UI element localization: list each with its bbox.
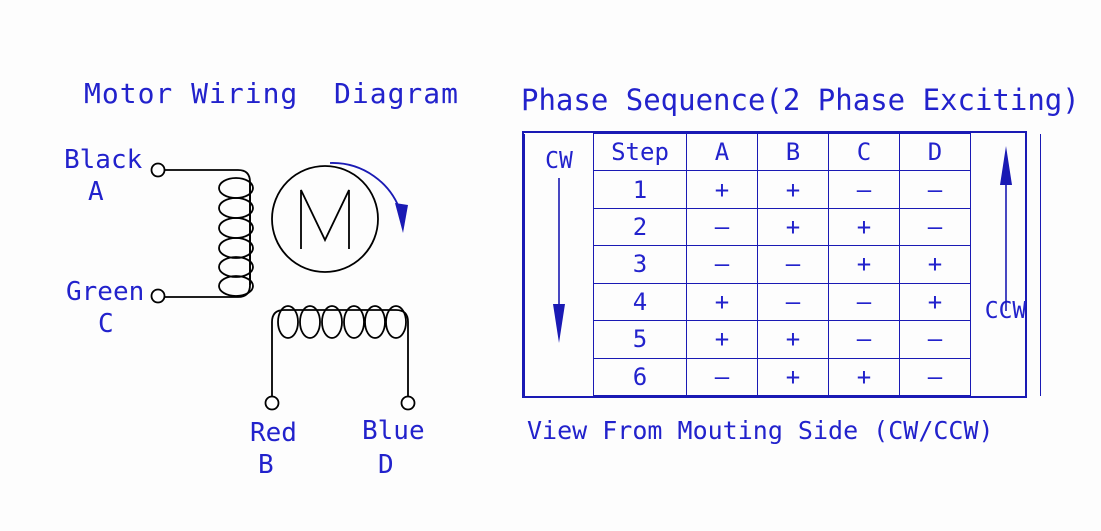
table-row: 6 — + + — [525,358,1041,395]
column-header-a: A [687,134,758,171]
cell-phase-b: + [758,208,829,245]
view-from-mounting-side-note: View From Mouting Side (CW/CCW) [527,418,994,443]
cell-phase-d: + [900,246,971,283]
cw-label: CW [525,148,593,174]
phase-sequence-table: CW Step A B C D CCW [522,131,1027,398]
table-row: 3 — — + + [525,246,1041,283]
cell-step: 4 [594,283,687,320]
cell-phase-b: + [758,358,829,395]
column-header-c: C [829,134,900,171]
terminal-phase-c: C [98,311,114,337]
cell-phase-d: + [900,283,971,320]
cell-step: 5 [594,321,687,358]
table-row: 2 — + + — [525,208,1041,245]
cw-direction-cell: CW [525,134,594,396]
rotation-arrow-clockwise [330,163,408,233]
cell-phase-c: — [829,283,900,320]
coil-ac-wires [164,170,250,297]
table-row: 5 + + — — [525,321,1041,358]
cell-phase-d: — [900,358,971,395]
cell-step: 6 [594,358,687,395]
cell-phase-a: — [687,358,758,395]
cell-phase-a: — [687,208,758,245]
cell-phase-b: — [758,246,829,283]
terminal-label-red: Red [250,420,297,446]
cell-phase-b: + [758,171,829,208]
table-row: 1 + + — — [525,171,1041,208]
table-header-row: CW Step A B C D CCW [525,134,1041,171]
cell-phase-d: — [900,208,971,245]
coil-ac-turns [219,178,253,296]
terminal-label-black: Black [64,147,142,173]
ccw-direction-cell: CCW [971,134,1041,396]
terminal-label-blue: Blue [362,418,425,444]
terminal-phase-d: D [378,452,394,478]
terminal-red-b [266,397,279,410]
cell-step: 2 [594,208,687,245]
cell-step: 3 [594,246,687,283]
table-row: 4 + — — + [525,283,1041,320]
cell-phase-d: — [900,171,971,208]
arrow-up-icon [995,146,1017,311]
cell-phase-a: + [687,171,758,208]
column-header-d: D [900,134,971,171]
cell-phase-c: + [829,246,900,283]
terminal-green-c [152,290,165,303]
cell-phase-a: + [687,321,758,358]
phase-sequence-title: Phase Sequence(2 Phase Exciting) [521,86,1080,115]
terminal-phase-b: B [258,452,274,478]
cell-phase-c: — [829,321,900,358]
column-header-step: Step [594,134,687,171]
cell-phase-c: — [829,171,900,208]
cell-phase-d: — [900,321,971,358]
motor-symbol-circle [272,166,378,272]
cell-phase-c: + [829,208,900,245]
terminal-label-green: Green [66,279,144,305]
cell-phase-b: — [758,283,829,320]
coil-bd-wires [272,310,408,400]
column-header-b: B [758,134,829,171]
terminal-phase-a: A [88,179,104,205]
cell-step: 1 [594,171,687,208]
cell-phase-c: + [829,358,900,395]
cell-phase-b: + [758,321,829,358]
terminal-black-a [152,164,165,177]
cell-phase-a: + [687,283,758,320]
cell-phase-a: — [687,246,758,283]
motor-wiring-phase-sequence-figure: Motor Wiring Diagram [0,0,1101,531]
terminal-blue-d [402,397,415,410]
arrow-down-icon [548,178,570,343]
